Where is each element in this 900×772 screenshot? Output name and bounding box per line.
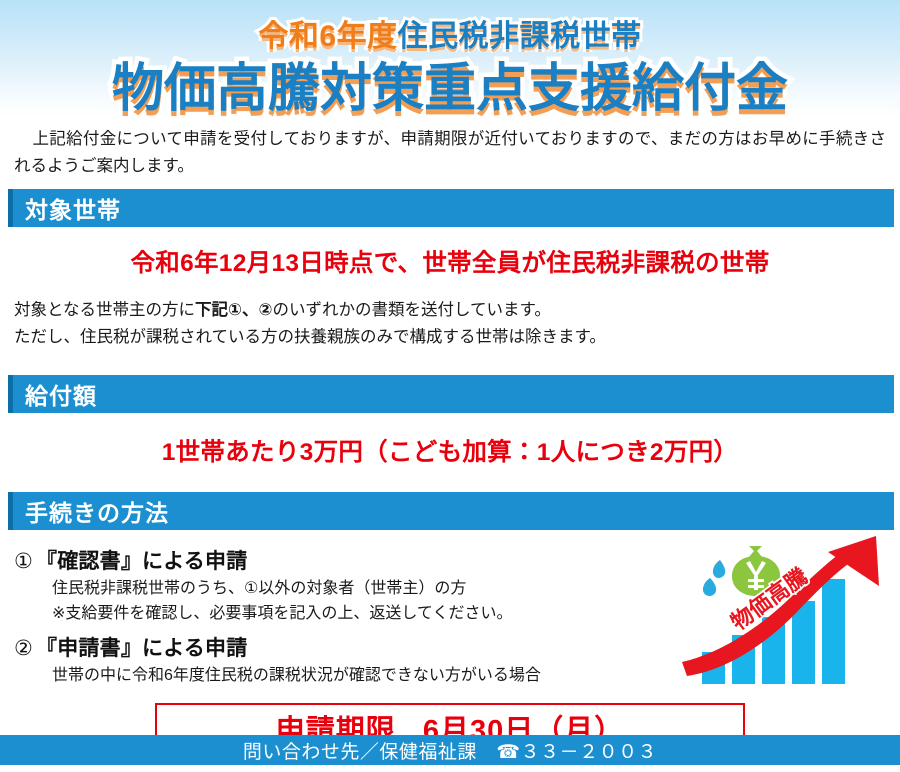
page-title: 物価高騰対策重点支援給付金 bbox=[0, 46, 900, 118]
section-bar-label: 給付額 bbox=[8, 377, 97, 411]
section-bar-target-households: 対象世帯 bbox=[8, 189, 894, 227]
spacer bbox=[0, 413, 900, 433]
body-line-pre: 対象となる世帯主の方に bbox=[14, 301, 195, 319]
intro-text: 上記給付金について申請を受付しておりますが、申請期限が近付いておりますので、まだ… bbox=[14, 130, 886, 175]
body-line-pre: ただし、住民税が課税されている方の扶養親族のみで構成する世帯は除きます。 bbox=[14, 328, 606, 346]
section-bar-label: 手続きの方法 bbox=[8, 494, 169, 528]
procedure-heading: ①『確認書』による申請 bbox=[14, 546, 886, 578]
procedure-number: ① bbox=[14, 550, 33, 573]
target-households-highlight: 令和6年12月13日時点で、世帯全員が住民税非課税の世帯 bbox=[0, 244, 900, 279]
procedure-item: ①『確認書』による申請 住民税非課税世帯のうち、①以外の対象者（世帯主）の方 ※… bbox=[14, 546, 886, 627]
poster-header: 令和6年度住民税非課税世帯 物価高騰対策重点支援給付金 bbox=[0, 0, 900, 118]
spacer bbox=[0, 530, 900, 546]
body-line-post: のいずれかの書類を送付しています。 bbox=[272, 301, 550, 319]
body-line-emphasis: 下記①、② bbox=[195, 301, 272, 319]
section-bar-label: 対象世帯 bbox=[8, 191, 121, 225]
contact-footer: 問い合わせ先／保健福祉課 ☎３３－２００３ bbox=[0, 735, 900, 765]
procedure-heading-text: 『申請書』による申請 bbox=[36, 637, 247, 660]
procedure-item: ②『申請書』による申請 世帯の中に令和6年度住民税の課税状況が確認できない方がい… bbox=[14, 633, 886, 689]
procedure-heading: ②『申請書』による申請 bbox=[14, 633, 886, 665]
benefit-amount-highlight: 1世帯あたり3万円（こども加算：1人につき2万円） bbox=[0, 433, 900, 468]
procedure-subline: ※支給要件を確認し、必要事項を記入の上、返送してください。 bbox=[14, 602, 886, 627]
procedure-number: ② bbox=[14, 637, 33, 660]
procedure-heading-text: 『確認書』による申請 bbox=[36, 550, 247, 573]
spacer bbox=[0, 279, 900, 297]
contact-footer-text: 問い合わせ先／保健福祉課 ☎３３－２００３ bbox=[243, 737, 657, 764]
body-line: ただし、住民税が課税されている方の扶養親族のみで構成する世帯は除きます。 bbox=[14, 324, 886, 351]
intro-paragraph: 上記給付金について申請を受付しておりますが、申請期限が近付いておりますので、まだ… bbox=[14, 126, 886, 179]
spacer bbox=[0, 227, 900, 244]
section-procedure: 手続きの方法 ①『確認書』による申請 住民税非課税世帯のうち、①以外の対象者（世… bbox=[0, 492, 900, 689]
procedure-subline: 住民税非課税世帯のうち、①以外の対象者（世帯主）の方 bbox=[14, 577, 886, 602]
section-benefit-amount: 給付額 1世帯あたり3万円（こども加算：1人につき2万円） bbox=[0, 375, 900, 468]
target-households-body: 対象となる世帯主の方に下記①、②のいずれかの書類を送付しています。 ただし、住民… bbox=[14, 297, 886, 350]
procedure-list: ①『確認書』による申請 住民税非課税世帯のうち、①以外の対象者（世帯主）の方 ※… bbox=[14, 546, 886, 689]
poster-root: 令和6年度住民税非課税世帯 物価高騰対策重点支援給付金 上記給付金について申請を… bbox=[0, 0, 900, 772]
procedure-subline: 世帯の中に令和6年度住民税の課税状況が確認できない方がいる場合 bbox=[14, 664, 886, 689]
section-bar-benefit-amount: 給付額 bbox=[8, 375, 894, 413]
section-target-households: 対象世帯 令和6年12月13日時点で、世帯全員が住民税非課税の世帯 対象となる世… bbox=[0, 189, 900, 350]
body-line: 対象となる世帯主の方に下記①、②のいずれかの書類を送付しています。 bbox=[14, 297, 886, 324]
section-bar-procedure: 手続きの方法 bbox=[8, 492, 894, 530]
